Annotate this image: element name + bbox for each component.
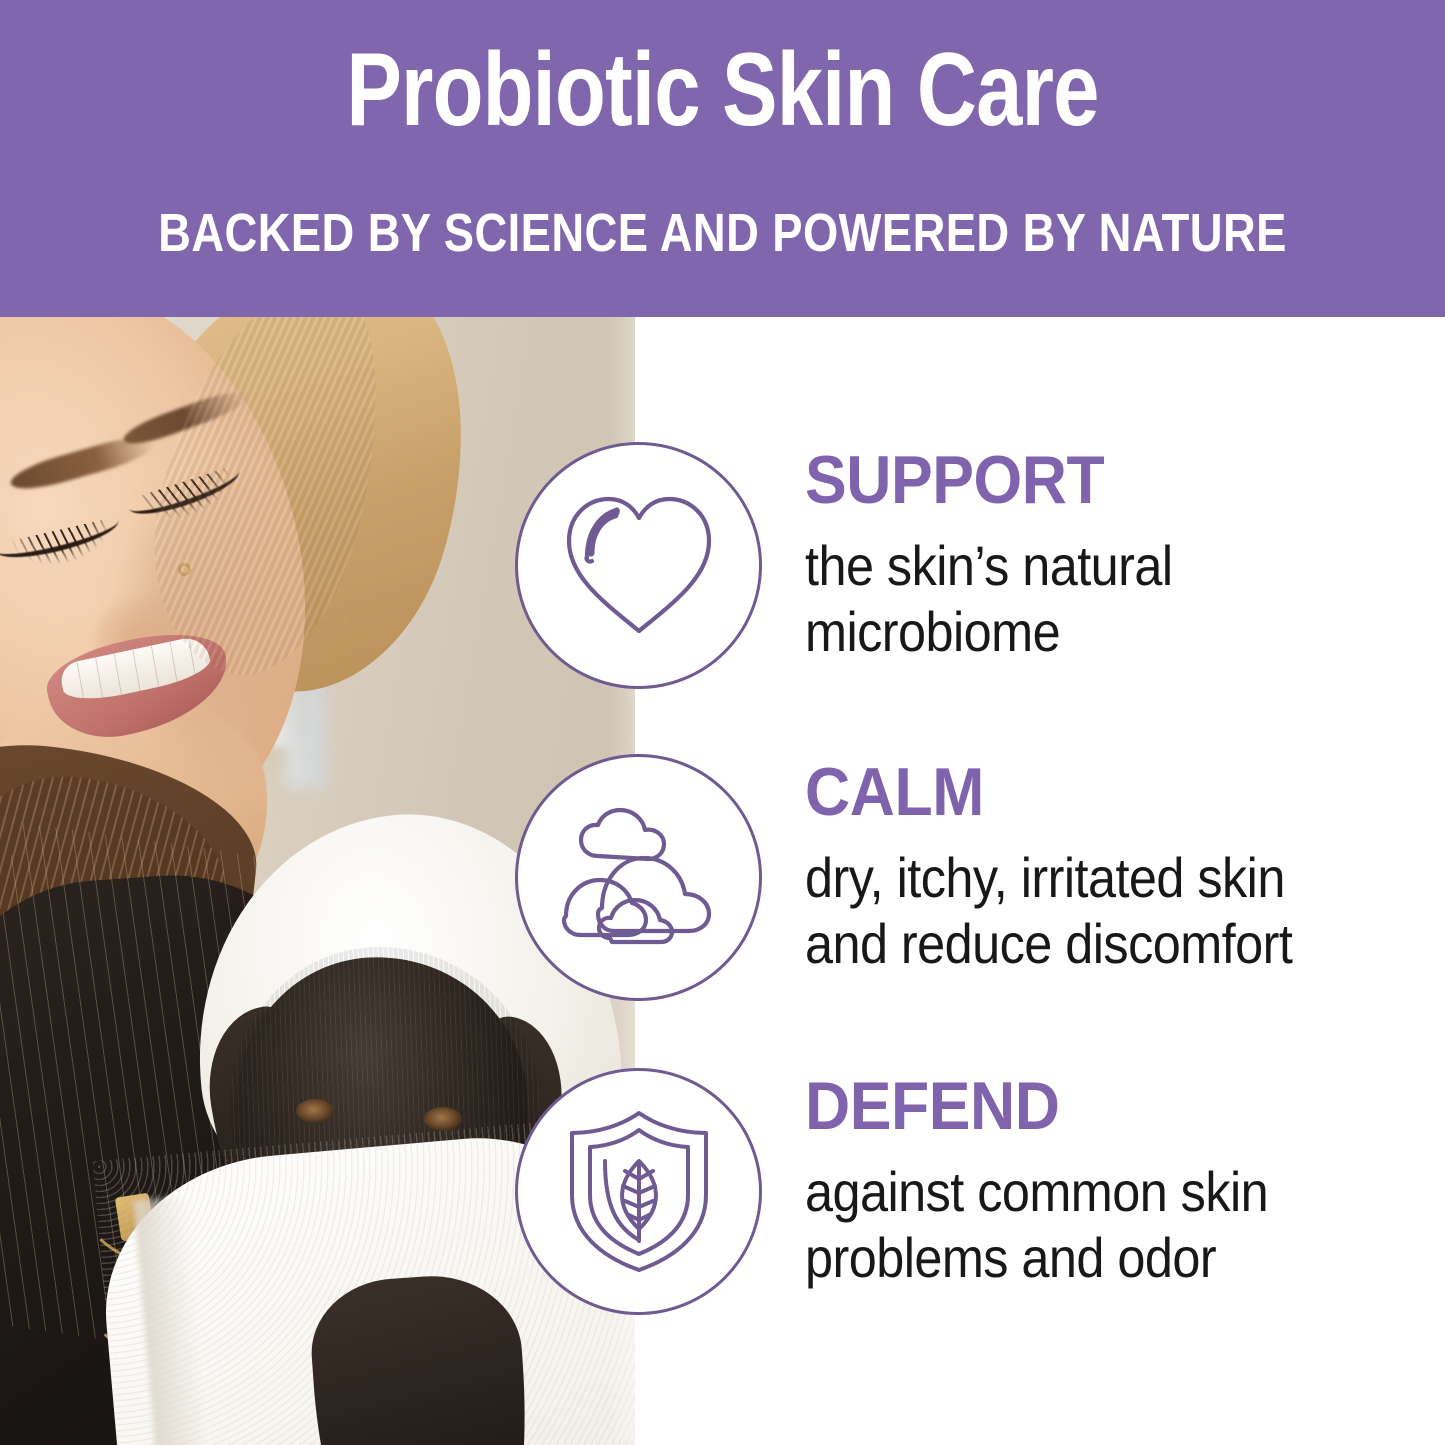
benefit-title: SUPPORT [805, 446, 1375, 515]
benefit-description-line: problems and odor [805, 1225, 1363, 1291]
page-subtitle: BACKED BY SCIENCE AND POWERED BY NATURE [116, 204, 1330, 263]
benefit-icon-badge [515, 442, 762, 689]
heart-icon [559, 491, 719, 641]
page-title: Probiotic Skin Care [145, 36, 1301, 145]
benefit-text-block: DEFEND against common skin problems and … [805, 1072, 1425, 1292]
benefit-text-block: CALM dry, itchy, irritated skin and redu… [805, 758, 1425, 978]
benefits-list: SUPPORT the skin’s natural microbiome [0, 317, 1445, 1445]
benefit-text-block: SUPPORT the skin’s natural microbiome [805, 446, 1425, 666]
benefit-description: dry, itchy, irritated skin and reduce di… [805, 845, 1363, 977]
benefit-icon-badge [515, 754, 762, 1001]
benefit-title: CALM [805, 758, 1375, 827]
benefit-description-line: and reduce discomfort [805, 911, 1363, 977]
benefit-description: against common skin problems and odor [805, 1159, 1363, 1291]
benefit-icon-badge [515, 1068, 762, 1315]
benefit-description-line: microbiome [805, 599, 1363, 665]
clouds-icon [554, 808, 724, 948]
benefit-title: DEFEND [805, 1072, 1375, 1141]
benefit-description: the skin’s natural microbiome [805, 533, 1363, 665]
benefit-description-line: dry, itchy, irritated skin [805, 845, 1363, 911]
header-band: Probiotic Skin Care BACKED BY SCIENCE AN… [0, 0, 1445, 317]
probiotic-skin-care-poster: Probiotic Skin Care BACKED BY SCIENCE AN… [0, 0, 1445, 1445]
benefit-description-line: the skin’s natural [805, 533, 1363, 599]
benefit-description-line: against common skin [805, 1159, 1363, 1225]
shield-leaf-icon [564, 1109, 714, 1274]
